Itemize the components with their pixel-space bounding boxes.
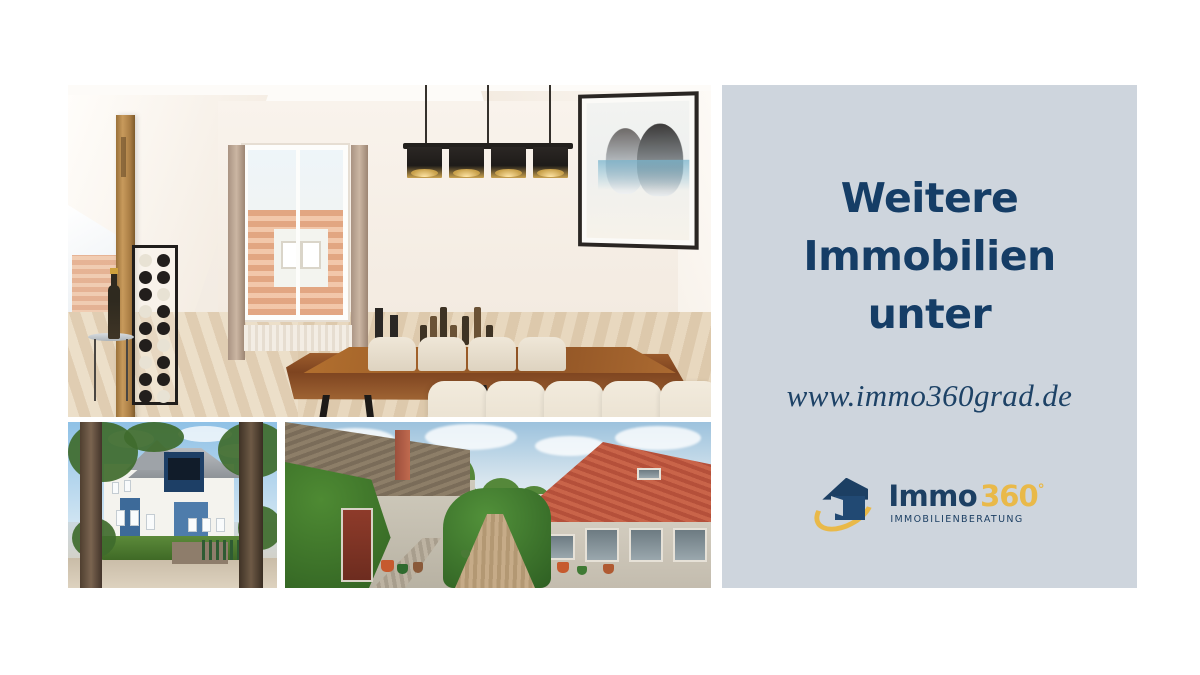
- side-table-legs: [94, 339, 128, 401]
- window-1: [585, 528, 619, 562]
- headline: Weitere Immobilien unter: [722, 169, 1137, 344]
- dormer-window: [243, 145, 348, 320]
- chair-near-4: [602, 381, 662, 417]
- immo360-logo[interactable]: Immo 360 ° IMMOBILIENBERATUNG: [814, 476, 1044, 528]
- window-3: [673, 528, 707, 562]
- window-4: [547, 534, 575, 560]
- villa-window-1: [116, 510, 125, 526]
- wine-bottle: [157, 339, 170, 352]
- wine-bottle: [157, 254, 170, 267]
- cloud-4: [615, 426, 701, 450]
- logo-brand-accent: 360: [980, 479, 1038, 513]
- website-url[interactable]: www.immo360grad.de: [787, 378, 1073, 414]
- house-with-swoosh-icon: [814, 476, 876, 528]
- entrance-door: [341, 508, 373, 582]
- chimney: [395, 430, 410, 480]
- info-panel: Weitere Immobilien unter www.immo360grad…: [722, 85, 1137, 588]
- foliage-5: [124, 422, 184, 452]
- villa-window-6: [216, 518, 225, 532]
- candle-holder-tall: [375, 308, 383, 338]
- curtain-right: [351, 145, 368, 357]
- villa-tower: [164, 452, 204, 492]
- chair-far-4: [518, 337, 566, 371]
- logo-tagline: IMMOBILIENBERATUNG: [890, 514, 1044, 525]
- pendant-lamp: [403, 107, 573, 187]
- headline-line-2: Immobilien: [722, 227, 1137, 285]
- wine-bottle: [157, 305, 170, 318]
- villa-window-8: [124, 480, 131, 492]
- headline-line-1: Weitere: [722, 169, 1137, 227]
- villa-window-3: [146, 514, 155, 530]
- lamp-cord-2: [487, 85, 489, 143]
- wine-bottle: [139, 339, 152, 352]
- tree-trunk-left: [80, 422, 102, 588]
- wine-bottle: [157, 390, 170, 403]
- wine-rack: [132, 245, 178, 405]
- villa-window-7: [112, 482, 119, 494]
- lamp-shade-1: [407, 147, 442, 178]
- candle-holder-short: [390, 315, 398, 338]
- chair-near-5: [660, 381, 711, 417]
- chair-far-2: [418, 337, 466, 371]
- lamp-cord-3: [549, 85, 551, 143]
- wine-bottle: [139, 305, 152, 318]
- villa-window-4: [188, 518, 197, 532]
- wine-bottle: [139, 254, 152, 267]
- wine-bottle: [157, 271, 170, 284]
- window-5: [637, 468, 661, 480]
- chair-near-1: [428, 381, 488, 417]
- chair-far-1: [368, 337, 416, 371]
- villa-photo: [68, 422, 277, 588]
- wine-bottle: [157, 322, 170, 335]
- chair-near-3: [544, 381, 604, 417]
- radiator: [244, 325, 352, 351]
- lamp-cord-1: [425, 85, 427, 143]
- lamp-shade-2: [449, 147, 484, 178]
- flower-pot-4: [557, 562, 569, 573]
- chair-far-3: [468, 337, 516, 371]
- wine-bottle: [139, 288, 152, 301]
- champagne-bottle: [108, 285, 120, 339]
- flower-pot-6: [603, 564, 614, 574]
- wine-bottle: [139, 271, 152, 284]
- wine-bottle: [139, 373, 152, 386]
- wine-bottle: [157, 373, 170, 386]
- courtyard-photo: [285, 422, 711, 588]
- flower-pot-2: [397, 564, 408, 574]
- wine-bottle: [157, 288, 170, 301]
- poster-canvas: Weitere Immobilien unter www.immo360grad…: [0, 0, 1200, 675]
- dining-room-photo: [68, 85, 711, 417]
- lamp-shade-3: [491, 147, 526, 178]
- headline-line-3: unter: [722, 285, 1137, 343]
- wine-bottle: [139, 390, 152, 403]
- wine-bottle: [139, 322, 152, 335]
- flower-pot-1: [381, 560, 394, 572]
- framed-artwork: [578, 91, 699, 250]
- villa-window-2: [130, 510, 139, 526]
- wine-bottle: [139, 356, 152, 369]
- wine-bottle: [157, 356, 170, 369]
- villa-window-5: [202, 518, 211, 532]
- chair-near-2: [486, 381, 546, 417]
- tree-trunk-right: [239, 422, 263, 588]
- logo-brand-primary: Immo: [888, 479, 977, 513]
- flower-pot-3: [413, 562, 423, 573]
- logo-degree-symbol: °: [1038, 482, 1045, 498]
- curtain-left: [228, 145, 245, 360]
- lamp-shade-4: [533, 147, 568, 178]
- window-2: [629, 528, 663, 562]
